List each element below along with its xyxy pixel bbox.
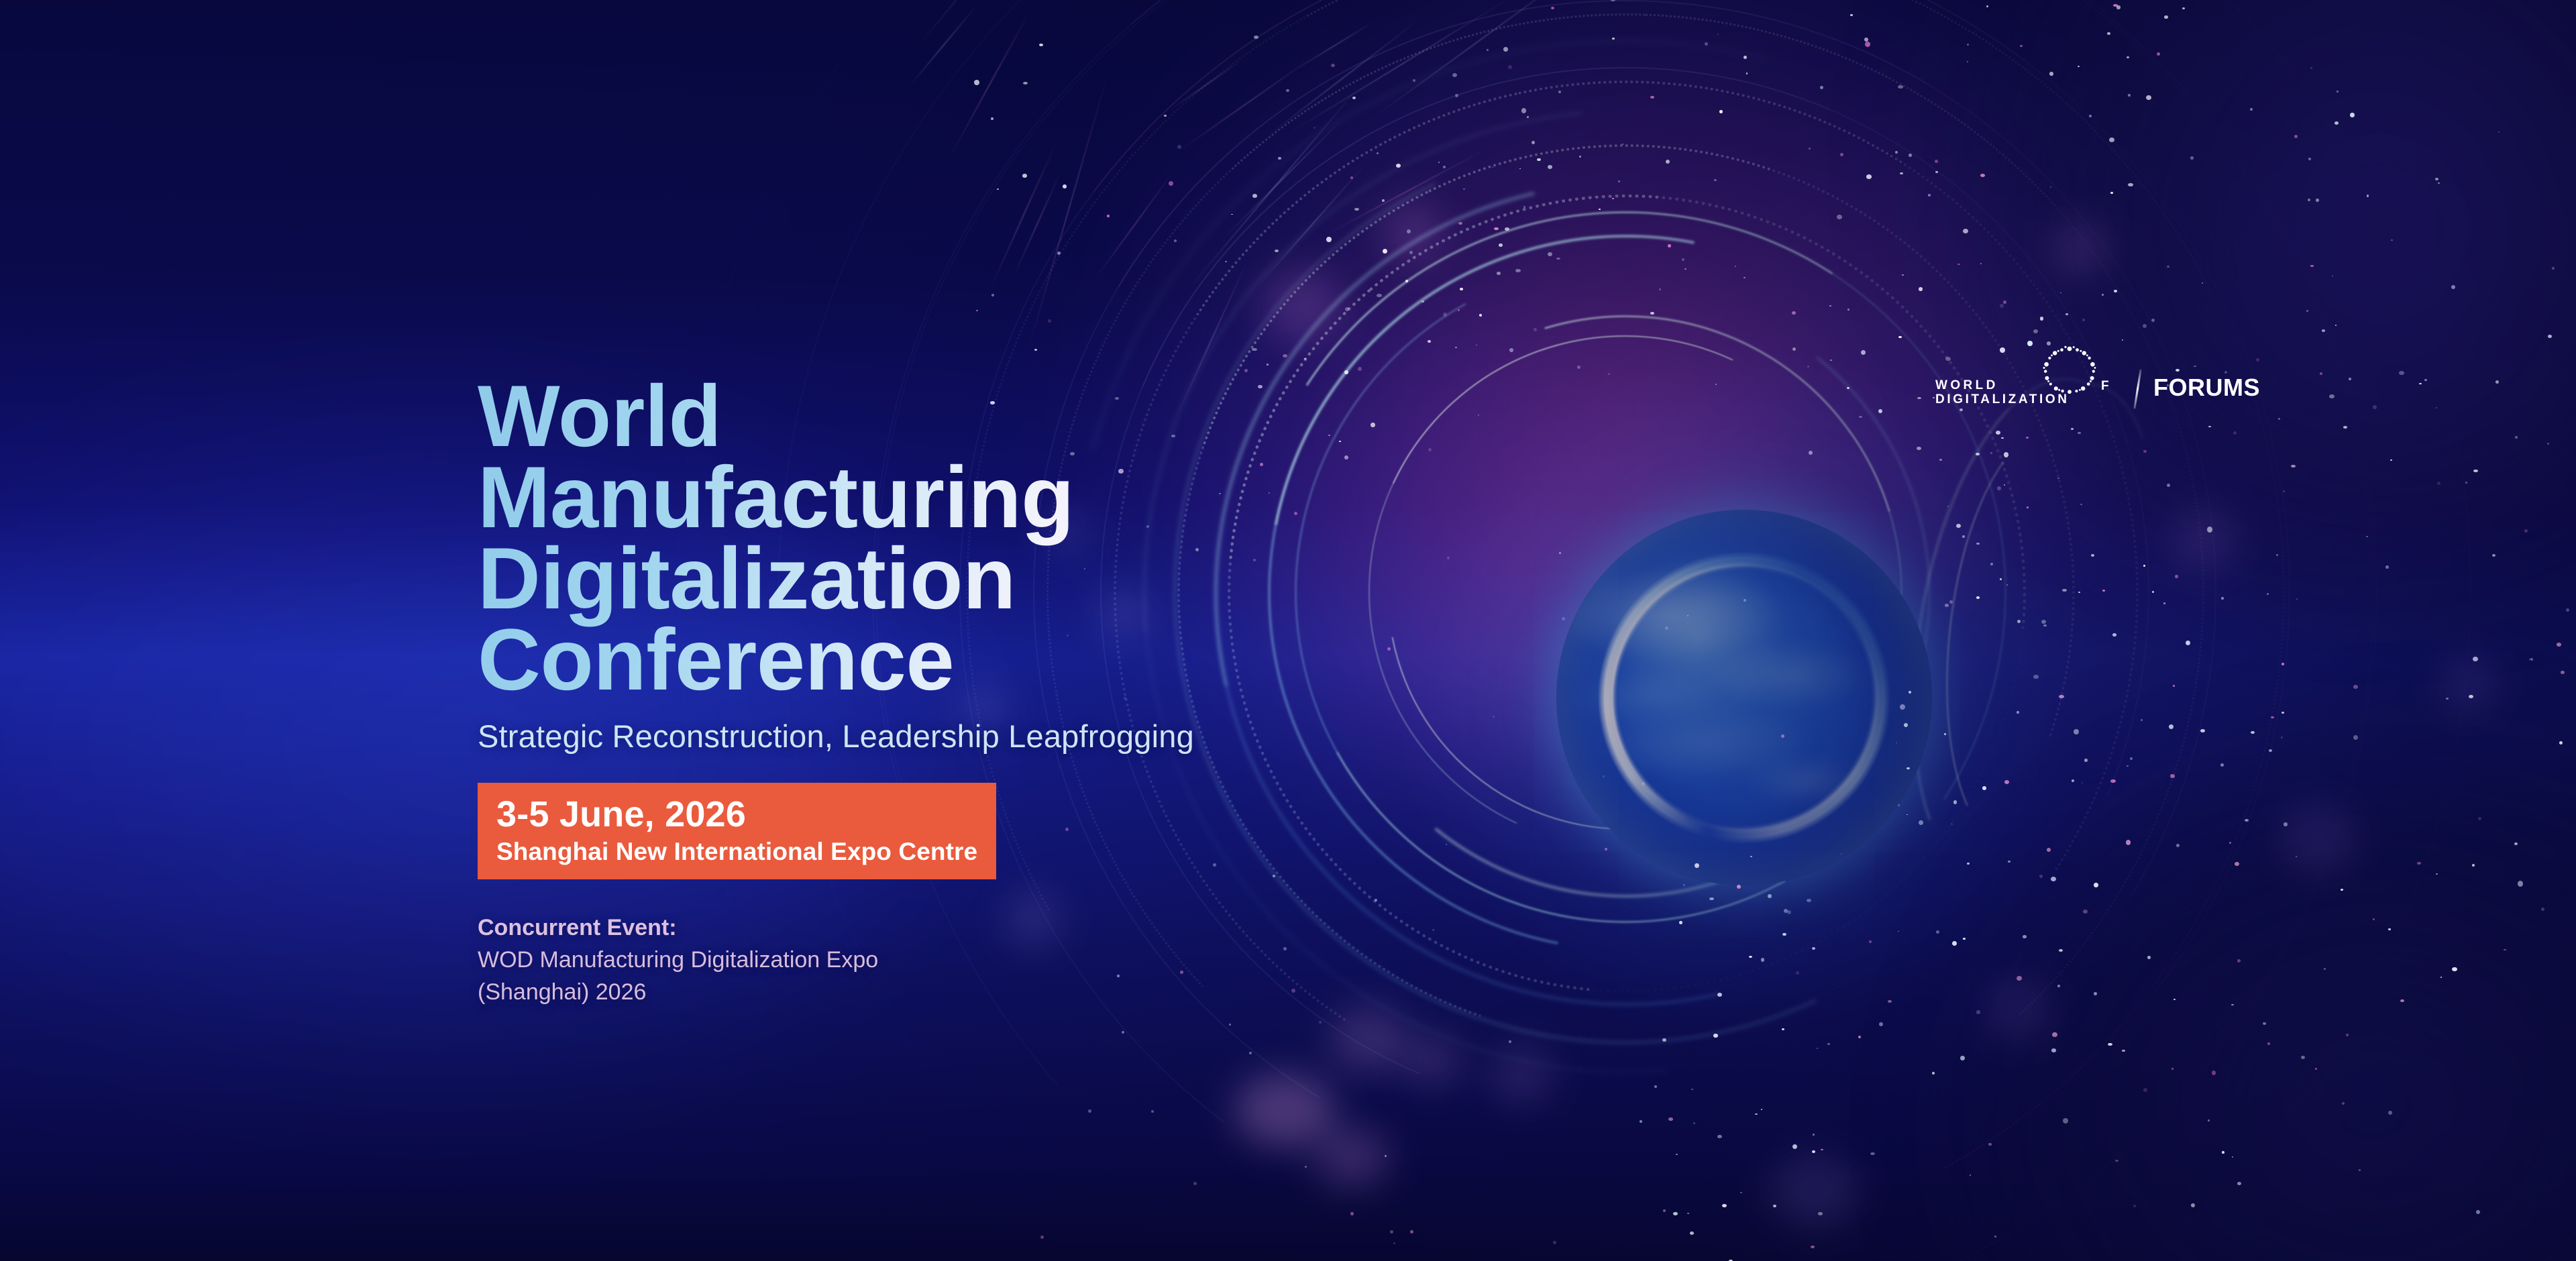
particle-dot [2235, 862, 2239, 866]
particle-dot [1523, 206, 1525, 208]
particle-dot [2059, 949, 2063, 952]
particle-dot [2141, 719, 2143, 721]
particle-dot [1358, 367, 1362, 371]
particle-dot [1421, 300, 1424, 303]
particle-dot [2006, 584, 2008, 586]
particle-dot [2231, 1004, 2234, 1005]
particle-dot [1344, 370, 1348, 374]
particle-dot [2566, 608, 2569, 612]
particle-dot [2083, 910, 2088, 914]
particle-dot [1508, 65, 1512, 69]
particle-dot [1792, 347, 1796, 351]
particle-dot [2143, 450, 2147, 453]
particle-dot [2089, 115, 2092, 117]
particle-dot [2039, 875, 2043, 878]
particle-dot [2417, 862, 2421, 865]
concurrent-event-block: Concurrent Event: WOD Manufacturing Digi… [478, 912, 1752, 1009]
bokeh-blob [1328, 1006, 1409, 1073]
particle-dot [2059, 695, 2064, 698]
particle-dot [1663, 1209, 1666, 1212]
particle-dot [2202, 282, 2203, 284]
particle-dot [1063, 184, 1067, 188]
particle-dot [1847, 309, 1849, 311]
particle-dot [1377, 152, 1379, 154]
bokeh-blob [2442, 657, 2495, 711]
particle-dot [2440, 977, 2442, 978]
banner-subtitle: Strategic Reconstruction, Leadership Lea… [478, 718, 1752, 755]
particle-dot [1229, 1024, 1231, 1026]
particle-dot [1895, 151, 1898, 154]
particle-dot [1275, 250, 1279, 252]
particle-dot [1169, 181, 1173, 186]
particle-dot [2107, 32, 2110, 35]
particle-dot [1829, 305, 1831, 307]
particle-dot [2169, 724, 2173, 729]
particle-dot [2040, 317, 2043, 321]
particle-dot [2000, 304, 2004, 308]
particle-dot [1267, 364, 1269, 366]
particle-dot [2282, 663, 2284, 665]
particle-dot [1278, 157, 1281, 160]
particle-dot [991, 294, 994, 296]
particle-dot [1935, 160, 1938, 163]
particle-dot [2094, 992, 2097, 995]
particle-dot [1499, 243, 1503, 247]
particle-dot [1494, 227, 1499, 230]
particle-dot [1953, 800, 1957, 804]
particle-dot [2078, 432, 2081, 434]
particle-dot [1813, 1134, 1815, 1136]
particle-dot [1980, 263, 1982, 264]
particle-dot [1463, 188, 1465, 190]
particle-dot [1443, 313, 1447, 317]
particle-dot [1809, 451, 1813, 455]
dotted-circle-icon [2036, 345, 2103, 402]
particle-dot [2306, 310, 2308, 312]
particle-dot [1919, 287, 1923, 291]
particle-dot [1807, 366, 1809, 368]
concurrent-event-value: WOD Manufacturing Digitalization Expo (S… [478, 944, 1752, 1009]
particle-dot [1866, 174, 1872, 179]
particle-dot [1976, 596, 1980, 599]
particle-dot [2170, 774, 2175, 778]
particle-dot [2237, 1182, 2241, 1185]
conference-banner: World Manufacturing Digitalization Confe… [0, 0, 2576, 1261]
particle-dot [2229, 842, 2231, 844]
particle-dot [1784, 909, 1788, 913]
particle-dot [1792, 311, 1796, 315]
particle-dot [1869, 940, 1872, 943]
particle-dot [1898, 85, 1903, 89]
particle-dot [2366, 536, 2368, 537]
particle-dot [1811, 1246, 1815, 1248]
particle-dot [1673, 1212, 1678, 1215]
bokeh-blob [1986, 979, 2049, 1040]
particle-dot [1976, 543, 1980, 545]
particle-dot [2026, 437, 2029, 439]
particle-dot [1254, 36, 1258, 39]
particle-dot [1313, 127, 1316, 129]
particle-dot [1693, 1122, 1695, 1124]
particle-dot [1928, 194, 1931, 197]
particle-dot [1761, 958, 1764, 962]
particle-dot [1509, 348, 1513, 352]
particle-dot [2143, 324, 2147, 328]
particle-dot [2263, 1022, 2266, 1025]
particle-dot [1164, 115, 1167, 117]
particle-dot [1396, 164, 1401, 168]
bokeh-blob [1489, 1046, 1553, 1103]
particle-dot [2027, 341, 2033, 346]
particle-dot [1691, 1089, 1693, 1090]
particle-dot [2294, 135, 2298, 138]
particle-dot [2000, 578, 2002, 580]
particle-dot [2388, 1111, 2392, 1115]
particle-dot [2094, 883, 2098, 887]
particle-dot [1812, 947, 1815, 950]
particle-dot [2102, 294, 2104, 296]
particle-dot [1428, 340, 1431, 343]
particle-dot [2047, 848, 2051, 852]
particle-dot [2049, 72, 2053, 76]
particle-dot [2438, 182, 2440, 184]
particle-dot [1331, 64, 1335, 67]
particle-dot [2071, 428, 2074, 430]
particle-dot [2221, 597, 2224, 600]
particle-dot [2041, 620, 2046, 624]
particle-dot [2063, 1118, 2068, 1123]
particle-dot [1393, 1242, 1395, 1244]
particle-dot [1782, 933, 1786, 936]
particle-dot [2452, 967, 2457, 971]
particle-dot [1951, 823, 1953, 825]
particle-dot [2033, 329, 2038, 333]
particle-dot [2561, 671, 2565, 674]
particle-dot [1827, 1043, 1830, 1045]
particle-dot [2476, 1210, 2480, 1214]
particle-dot [1768, 894, 1772, 898]
particle-dot [2057, 478, 2059, 479]
concurrent-event-label: Concurrent Event: [478, 912, 1752, 944]
particle-dot [2057, 985, 2060, 987]
particle-dot [2343, 426, 2347, 429]
particle-dot [1345, 307, 1349, 311]
particle-dot [2052, 1032, 2057, 1037]
particle-dot [1612, 38, 1615, 40]
page-title: World Manufacturing Digitalization Confe… [478, 376, 1752, 700]
particle-dot [2157, 52, 2160, 56]
particle-dot [1957, 264, 1960, 265]
particle-dot [2212, 1071, 2216, 1075]
particle-dot [1352, 97, 1356, 99]
particle-dot [2337, 91, 2339, 93]
particle-dot [1976, 453, 1980, 455]
particle-dot [1527, 116, 1529, 118]
particle-dot [2373, 918, 2375, 920]
particle-dot [2164, 15, 2168, 19]
particle-dot [1668, 244, 1671, 248]
particle-dot [2359, 1169, 2361, 1171]
particle-dot [1870, 1152, 1875, 1155]
particle-dot [1022, 174, 1027, 178]
particle-dot [1319, 1021, 1322, 1024]
particle-dot [2017, 620, 2021, 623]
particle-dot [1949, 600, 1953, 604]
particle-dot [2191, 1203, 2195, 1207]
particle-dot [2112, 633, 2116, 637]
particle-dot [1640, 1120, 1642, 1123]
particle-dot [1509, 1040, 1511, 1043]
particle-dot [2373, 405, 2377, 409]
particle-dot [1174, 239, 1177, 242]
particle-dot [1048, 319, 1051, 323]
particle-dot [2051, 1048, 2056, 1052]
particle-dot [2167, 484, 2170, 487]
particle-dot [2115, 1160, 2118, 1162]
particle-dot [1107, 215, 1110, 217]
particle-dot [1909, 154, 1912, 157]
particle-dot [2308, 158, 2311, 160]
particle-dot [2065, 313, 2068, 315]
particle-dot [2114, 290, 2117, 292]
bokeh-blob [1402, 1033, 1462, 1087]
particle-dot [1878, 409, 1882, 413]
particle-dot [2102, 590, 2105, 592]
particle-dot [2424, 379, 2427, 381]
particle-dot [2367, 195, 2369, 197]
particle-dot [2152, 591, 2154, 593]
particle-dot [2498, 131, 2500, 133]
particle-dot [1534, 328, 1537, 331]
particle-dot [2250, 108, 2253, 111]
banner-content: World Manufacturing Digitalization Confe… [478, 376, 1752, 1009]
particle-dot [997, 188, 999, 190]
particle-dot [1553, 1241, 1556, 1244]
particle-dot [2278, 418, 2280, 420]
particle-dot [1662, 1038, 1666, 1042]
particle-dot [2080, 504, 2082, 505]
particle-dot [1740, 1192, 1742, 1193]
particle-dot [1990, 452, 1992, 454]
particle-dot [2208, 1119, 2210, 1121]
particle-dot [1963, 229, 1968, 233]
particle-dot [2559, 741, 2563, 745]
particle-dot [1650, 96, 1654, 99]
particle-dot [2171, 1068, 2173, 1070]
particle-dot [2208, 426, 2211, 427]
particle-dot [1909, 691, 1911, 694]
bokeh-blob [1261, 268, 1342, 342]
particle-dot [1034, 349, 1037, 351]
particle-dot [2200, 729, 2205, 732]
particle-dot [1682, 258, 1684, 261]
particle-dot [1919, 820, 1923, 825]
bokeh-blob [1315, 1127, 1389, 1187]
particle-dot [2167, 266, 2169, 268]
particle-dot [1122, 1031, 1124, 1034]
particle-dot [991, 117, 994, 120]
particle-dot [2175, 575, 2178, 578]
particle-dot [1787, 910, 1791, 914]
particle-dot [2127, 765, 2129, 767]
particle-dot [2176, 844, 2180, 847]
particle-dot [2552, 267, 2555, 270]
particle-dot [1960, 1056, 1965, 1060]
particle-dot [1997, 486, 2001, 490]
particle-dot [2110, 779, 2116, 783]
particle-dot [1618, 180, 1620, 182]
particle-dot [2190, 156, 2194, 160]
bokeh-blob [1382, 201, 1442, 262]
particle-dot [2110, 192, 2113, 194]
particle-dot [2122, 1050, 2125, 1052]
particle-dot [1503, 47, 1508, 52]
bokeh-blob [2173, 510, 2234, 570]
particle-dot [1840, 153, 1843, 156]
particle-dot [2017, 711, 2019, 714]
particle-dot [1650, 312, 1654, 315]
particle-dot [1907, 767, 1910, 769]
particle-dot [1326, 237, 1332, 242]
particle-dot [1792, 1144, 1797, 1149]
particle-dot [2322, 329, 2325, 332]
particle-dot [2399, 371, 2404, 375]
particle-dot [1850, 14, 1853, 16]
particle-dot [1879, 1022, 1883, 1026]
particle-dot [2082, 319, 2085, 321]
particle-dot [1714, 179, 1717, 181]
particle-dot [1286, 89, 1289, 92]
particle-dot [1039, 44, 1043, 46]
particle-dot [1458, 309, 1460, 311]
particle-dot [1611, 0, 1615, 1]
particle-dot [2008, 861, 2010, 863]
particle-dot [2074, 729, 2079, 734]
particle-dot [2335, 325, 2337, 326]
particle-dot [1996, 431, 2000, 435]
particle-dot [1713, 1034, 1718, 1038]
particle-dot [1350, 1212, 1354, 1215]
particle-dot [1939, 459, 1942, 461]
particle-dot [1963, 938, 1966, 940]
particle-dot [2514, 842, 2518, 845]
particle-dot [2051, 877, 2056, 881]
particle-dot [1515, 269, 1521, 272]
particle-dot [2518, 881, 2523, 887]
particle-dot [2451, 285, 2455, 289]
particle-dot [2146, 95, 2151, 100]
particle-dot [1935, 171, 1938, 173]
date-venue-badge: 3-5 June, 2026 Shanghai New Internationa… [478, 783, 996, 879]
particle-dot [2271, 716, 2274, 718]
particle-dot [1865, 42, 1870, 47]
particle-dot [2163, 602, 2165, 604]
particle-dot [1982, 786, 1986, 790]
event-date: 3-5 June, 2026 [496, 796, 977, 833]
particle-dot [2109, 138, 2114, 142]
particle-dot [1735, 266, 1736, 267]
particle-dot [1521, 108, 1526, 113]
particle-dot [2004, 452, 2008, 457]
event-venue: Shanghai New International Expo Centre [496, 838, 977, 865]
particle-dot [1956, 524, 1961, 528]
particle-dot [1151, 1110, 1154, 1113]
particle-dot [1796, 971, 1799, 975]
particle-dot [1455, 347, 1457, 348]
bokeh-blob [1771, 1154, 1858, 1227]
particle-dot [1460, 288, 1463, 290]
particle-dot [2283, 490, 2285, 492]
particle-dot [1608, 373, 1610, 375]
particle-dot [1676, 1154, 1678, 1155]
particle-dot [1847, 387, 1849, 389]
particle-dot [2020, 45, 2023, 47]
particle-dot [974, 80, 979, 85]
particle-dot [1579, 156, 1581, 158]
particle-dot [1556, 258, 1560, 260]
particle-dot [2122, 339, 2123, 341]
particle-dot [1505, 227, 1509, 231]
particle-dot [1654, 1085, 1657, 1088]
particle-dot [2557, 643, 2561, 647]
particle-dot [2173, 685, 2175, 687]
particle-dot [2126, 840, 2131, 845]
logo-word-of: F [2101, 379, 2110, 394]
wod-forums-logo[interactable]: WORLD DIGITALIZATION [1935, 349, 2244, 424]
particle-dot [2033, 675, 2039, 679]
bokeh-blob [2053, 221, 2106, 275]
particle-dot [1383, 249, 1387, 254]
particle-dot [2128, 94, 2131, 97]
particle-dot [1976, 1010, 1980, 1014]
particle-dot [2548, 335, 2552, 338]
particle-dot [1283, 354, 1287, 358]
particle-dot [1821, 1149, 1823, 1150]
particle-dot [2084, 759, 2088, 762]
particle-dot [1904, 723, 1908, 727]
particle-dot [2316, 199, 2319, 202]
particle-dot [1988, 1143, 1992, 1146]
particle-dot [1497, 272, 1501, 275]
particle-dot [1743, 56, 1747, 59]
particle-dot [1668, 1117, 1673, 1121]
particle-dot [1405, 280, 1408, 282]
particle-dot [1548, 252, 1552, 256]
particle-dot [1705, 42, 1708, 46]
particle-dot [976, 310, 978, 311]
particle-dot [2023, 935, 2027, 938]
particle-dot [2143, 1088, 2147, 1092]
particle-dot [1354, 208, 1359, 211]
particle-dot [2329, 394, 2334, 398]
particle-dot [2282, 712, 2284, 714]
particle-dot [1900, 704, 1905, 710]
particle-dot [2237, 959, 2241, 963]
particle-dot [2043, 624, 2047, 626]
particle-dot [1898, 336, 1902, 338]
particle-dot [1861, 350, 1866, 355]
bokeh-blob [1234, 1073, 1335, 1147]
particle-dot [2391, 239, 2393, 241]
logo-divider [2133, 369, 2141, 409]
particle-dot [1690, 1231, 1694, 1235]
particle-dot [2495, 380, 2499, 384]
particle-dot [2320, 372, 2322, 375]
particle-dot [1659, 288, 1661, 290]
particle-dot [1479, 314, 1482, 317]
particle-dot [2004, 780, 2009, 784]
particle-dot [2400, 999, 2404, 1002]
